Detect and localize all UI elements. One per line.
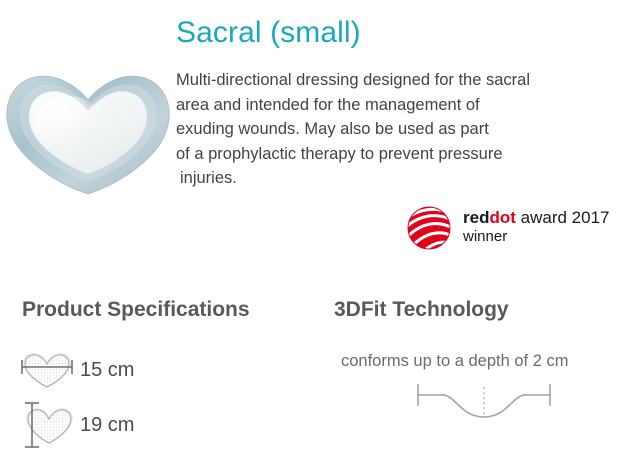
product-specifications-heading: Product Specifications xyxy=(22,298,250,322)
depth-caption: conforms up to a depth of 2 cm xyxy=(341,352,568,371)
description-line: area and intended for the management of xyxy=(176,93,596,118)
reddot-award-year: award 2017 xyxy=(516,208,610,227)
depth-diagram-svg xyxy=(414,383,554,431)
reddot-word-red: red xyxy=(463,208,489,227)
3dfit-technology-heading: 3DFit Technology xyxy=(334,298,509,322)
page-title: Sacral (small) xyxy=(176,15,361,51)
product-image xyxy=(2,52,174,200)
reddot-word-dot: dot xyxy=(489,208,515,227)
heart-width-icon-svg xyxy=(20,348,74,392)
heart-width-measure-icon xyxy=(20,348,74,392)
reddot-award-subtitle: winner xyxy=(463,228,609,246)
pad-highlight xyxy=(34,96,102,148)
reddot-logo-icon xyxy=(404,203,454,253)
heart-height-measure-icon xyxy=(20,400,74,450)
dressing-photo-svg xyxy=(2,52,174,200)
description-line: exuding wounds. May also be used as part xyxy=(176,117,596,142)
reddot-sphere-svg xyxy=(404,203,454,253)
heart-height-icon-svg xyxy=(20,400,74,450)
spec-row-height: 19 cm xyxy=(20,400,134,450)
description-line: of a prophylactic therapy to prevent pre… xyxy=(176,142,596,167)
description-line: injuries. xyxy=(176,166,596,191)
product-description: Multi-directional dressing designed for … xyxy=(176,68,596,191)
spec-value-height: 19 cm xyxy=(80,414,134,437)
spec-row-width: 15 cm xyxy=(20,348,134,392)
spec-value-width: 15 cm xyxy=(80,359,134,382)
description-line: Multi-directional dressing designed for … xyxy=(176,68,596,93)
reddot-award-title: reddot award 2017 xyxy=(463,208,609,228)
reddot-award-badge: reddot award 2017 winner xyxy=(404,203,609,253)
reddot-award-text: reddot award 2017 winner xyxy=(463,208,609,248)
depth-cross-section-diagram xyxy=(414,383,554,431)
